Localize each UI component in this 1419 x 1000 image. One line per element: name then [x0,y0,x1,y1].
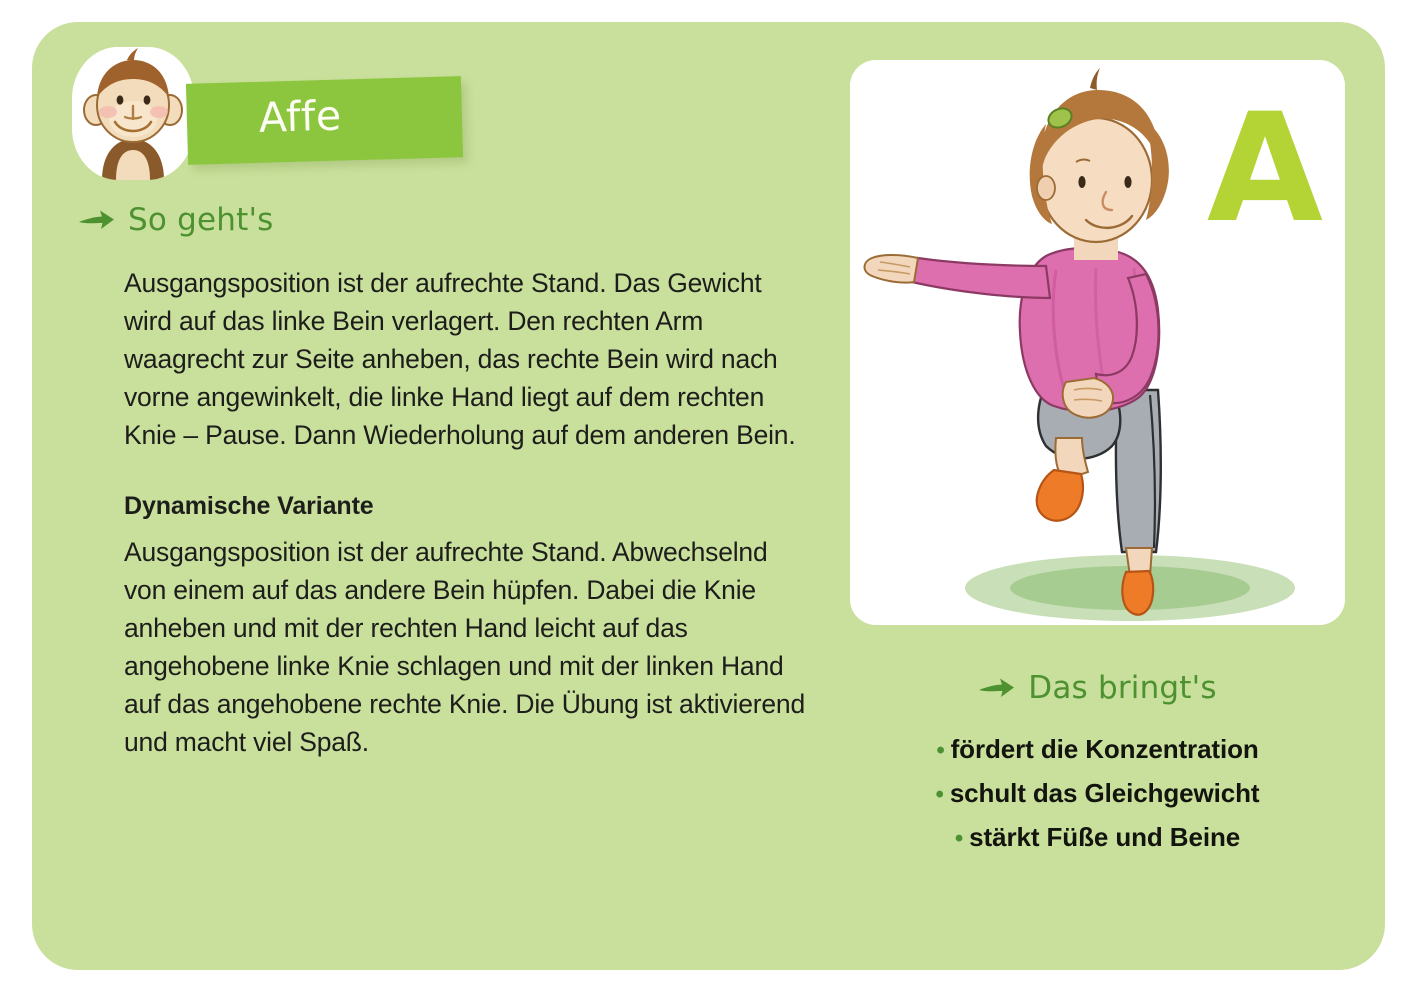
benefits-section: Das bringt's •fördert die Konzentration … [850,670,1345,860]
howto-subheading: Dynamische Variante [124,492,814,521]
howto-heading: So geht's [128,202,274,238]
monkey-avatar-icon [72,47,194,180]
list-item: •stärkt Füße und Beine [850,816,1345,860]
exercise-card-page: Affe So geht's Ausgangsposition ist der … [32,22,1385,970]
howto-body: Ausgangsposition ist der aufrechte Stand… [32,264,832,761]
benefit-label: schult das Gleichgewicht [950,778,1260,808]
howto-heading-row: So geht's [32,202,832,238]
benefit-label: fördert die Konzentration [951,734,1259,764]
howto-section: So geht's Ausgangsposition ist der aufre… [32,202,832,761]
exercise-illustration-card: A [850,60,1345,625]
list-item: •schult das Gleichgewicht [850,772,1345,816]
howto-paragraph-2: Ausgangsposition ist der aufrechte Stand… [124,533,814,761]
list-item: •fördert die Konzentration [850,728,1345,772]
benefit-label: stärkt Füße und Beine [969,822,1240,852]
animal-title-banner: Affe [186,76,463,165]
arrow-right-icon [978,676,1016,700]
howto-paragraph-1: Ausgangsposition ist der aufrechte Stand… [124,264,814,454]
animal-title: Affe [258,92,342,142]
bullet-icon: • [936,781,944,808]
benefits-heading: Das bringt's [1028,670,1216,706]
letter-badge: A [1207,108,1323,231]
bullet-icon: • [936,737,944,764]
bullet-icon: • [955,825,963,852]
avatar [72,47,194,180]
benefits-heading-row: Das bringt's [850,670,1345,706]
benefits-list: •fördert die Konzentration •schult das G… [850,728,1345,860]
arrow-right-icon [78,208,116,232]
